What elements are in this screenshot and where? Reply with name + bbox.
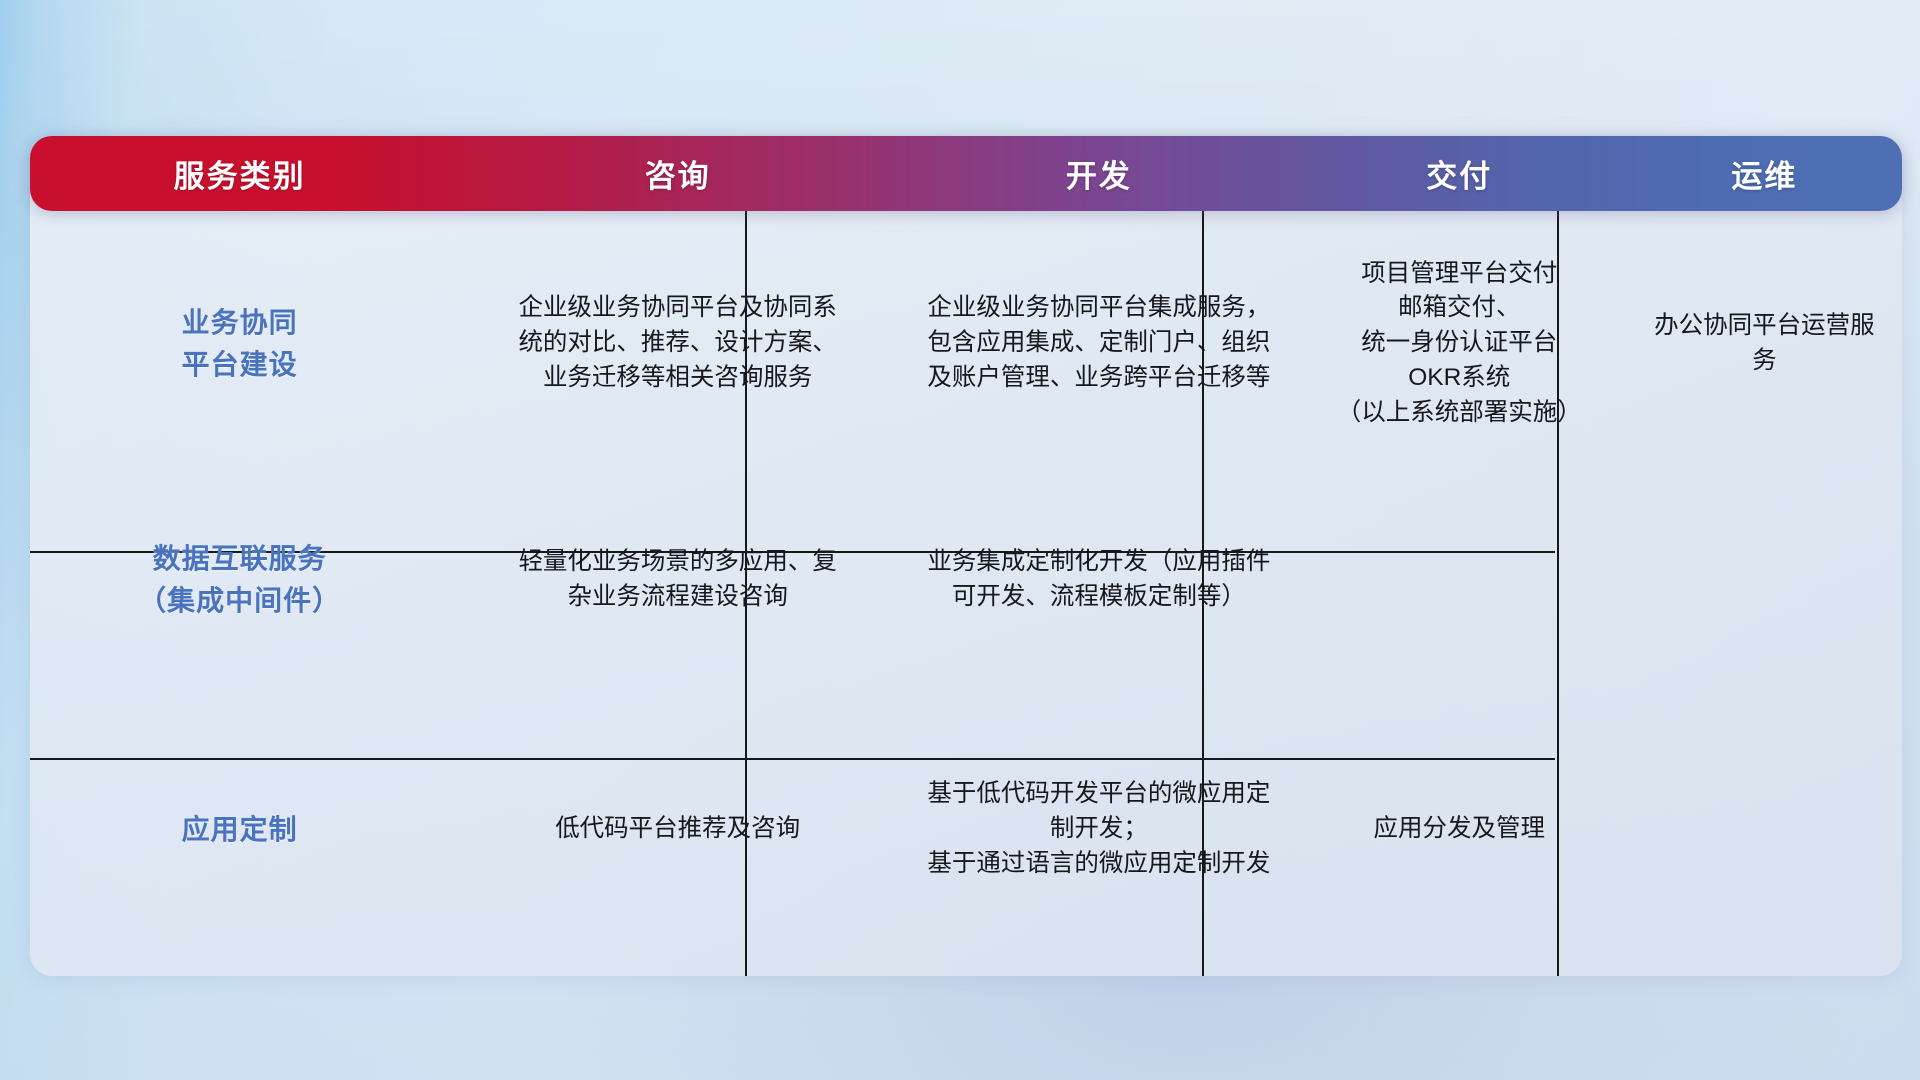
row-label-data-interconnection: 数据互联服务 （集成中间件） xyxy=(30,476,449,683)
cell-row1-delivery xyxy=(1292,476,1627,683)
table-header: 服务类别 咨询 开发 交付 运维 xyxy=(30,136,1902,211)
row-label-app-customization: 应用定制 xyxy=(30,683,449,976)
table-row: 应用定制 低代码平台推荐及咨询 基于低代码开发平台的微应用定 制开发； 基于通过… xyxy=(30,683,1902,976)
header-cell-operations: 运维 xyxy=(1627,136,1902,211)
row-label-business-collaboration: 业务协同 平台建设 xyxy=(30,211,449,476)
cell-row0-consulting: 企业级业务协同平台及协同系 统的对比、推荐、设计方案、 业务迁移等相关咨询服务 xyxy=(449,211,906,476)
cell-row0-development: 企业级业务协同平台集成服务， 包含应用集成、定制门户、组织 及账户管理、业务跨平… xyxy=(906,211,1292,476)
header-cell-delivery: 交付 xyxy=(1292,136,1627,211)
table-body: 业务协同 平台建设 企业级业务协同平台及协同系 统的对比、推荐、设计方案、 业务… xyxy=(30,211,1902,976)
table-card: 业务协同 平台建设 企业级业务协同平台及协同系 统的对比、推荐、设计方案、 业务… xyxy=(30,136,1902,976)
cell-row2-development: 基于低代码开发平台的微应用定 制开发； 基于通过语言的微应用定制开发 xyxy=(906,683,1292,976)
table-row: 数据互联服务 （集成中间件） 轻量化业务场景的多应用、复 杂业务流程建设咨询 业… xyxy=(30,476,1902,683)
table-row: 业务协同 平台建设 企业级业务协同平台及协同系 统的对比、推荐、设计方案、 业务… xyxy=(30,211,1902,476)
cell-row0-operations: 办公协同平台运营服务 xyxy=(1627,211,1902,476)
cell-row1-consulting: 轻量化业务场景的多应用、复 杂业务流程建设咨询 xyxy=(449,476,906,683)
column-divider-1 xyxy=(745,211,747,976)
cell-row2-operations xyxy=(1627,683,1902,976)
cell-row2-delivery: 应用分发及管理 xyxy=(1292,683,1627,976)
header-cell-category: 服务类别 xyxy=(30,136,449,211)
cell-row2-consulting: 低代码平台推荐及咨询 xyxy=(449,683,906,976)
column-divider-3 xyxy=(1557,211,1559,976)
header-cell-consulting: 咨询 xyxy=(449,136,906,211)
cell-row0-delivery: 项目管理平台交付 邮箱交付、 统一身份认证平台 OKR系统 （以上系统部署实施） xyxy=(1292,211,1627,476)
header-cell-development: 开发 xyxy=(906,136,1292,211)
cell-row1-development: 业务集成定制化开发（应用插件 可开发、流程模板定制等） xyxy=(906,476,1292,683)
cell-row1-operations xyxy=(1627,476,1902,683)
column-divider-2 xyxy=(1202,211,1204,976)
